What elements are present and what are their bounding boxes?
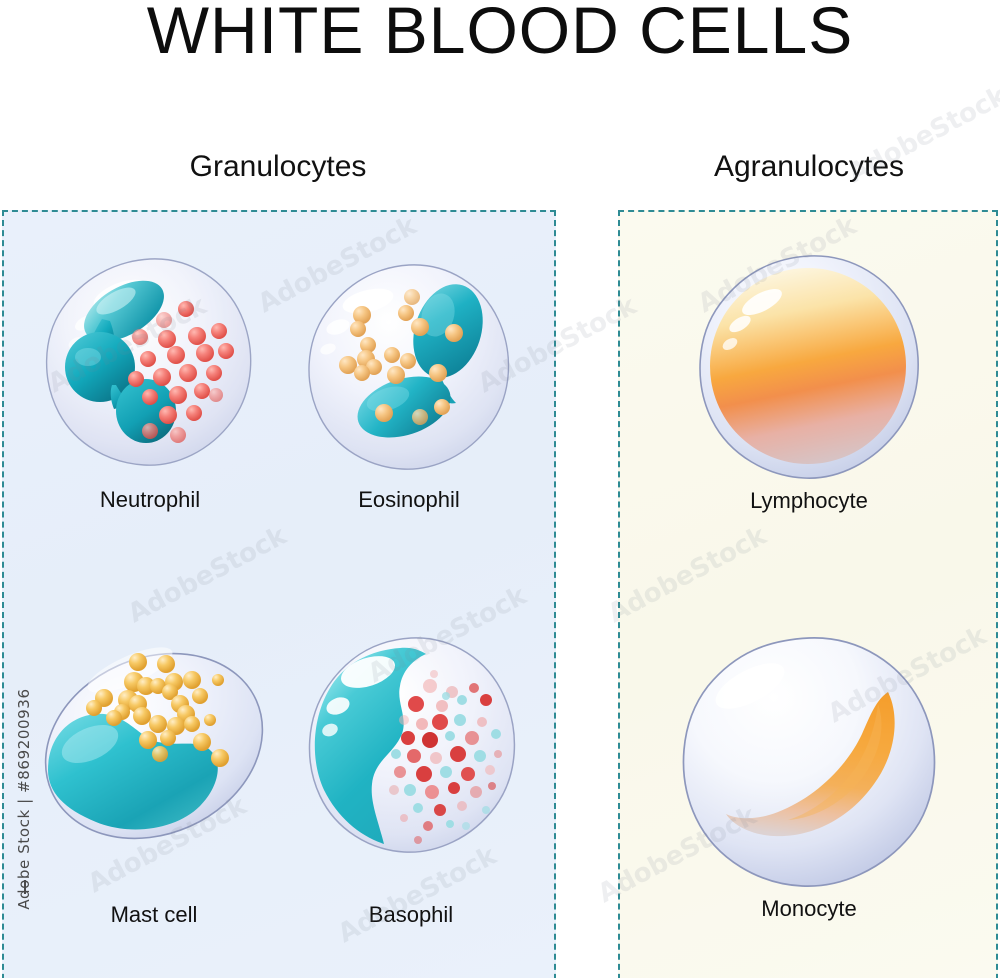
cell-figure-monocyte: Monocyte bbox=[664, 630, 954, 940]
lymphocyte-nucleus bbox=[710, 268, 906, 464]
neutrophil-illustration bbox=[30, 245, 270, 485]
lymphocyte-illustration bbox=[676, 250, 942, 490]
cell-figure-mast-cell: Mast cell bbox=[34, 620, 274, 940]
cell-label-lymphocyte: Lymphocyte bbox=[676, 488, 942, 514]
cell-label-basophil: Basophil bbox=[300, 902, 522, 928]
cell-figure-lymphocyte: Lymphocyte bbox=[676, 250, 942, 535]
cell-label-neutrophil: Neutrophil bbox=[30, 487, 270, 513]
cell-label-eosinophil: Eosinophil bbox=[296, 487, 522, 513]
page-title: WHITE BLOOD CELLS bbox=[0, 0, 1000, 66]
basophil-illustration bbox=[300, 630, 522, 890]
poster-canvas: WHITE BLOOD CELLS Granulocytes Agranuloc… bbox=[0, 0, 1000, 978]
group-heading-agranulocytes: Agranulocytes bbox=[618, 150, 1000, 184]
cell-figure-eosinophil: Eosinophil bbox=[296, 255, 522, 535]
cell-label-monocyte: Monocyte bbox=[664, 896, 954, 922]
mast-cell-illustration bbox=[34, 620, 274, 900]
nucleus-highlight bbox=[75, 348, 101, 366]
monocyte-illustration bbox=[664, 630, 954, 900]
cell-figure-neutrophil: Neutrophil bbox=[30, 245, 270, 535]
eosinophil-illustration bbox=[296, 255, 522, 481]
cell-figure-basophil: Basophil bbox=[300, 630, 522, 940]
monocyte-cytoplasm bbox=[684, 638, 935, 886]
stock-credit-label: Adobe Stock | #869200936 bbox=[15, 679, 33, 919]
cell-label-mast-cell: Mast cell bbox=[34, 902, 274, 928]
group-heading-granulocytes: Granulocytes bbox=[0, 150, 556, 184]
